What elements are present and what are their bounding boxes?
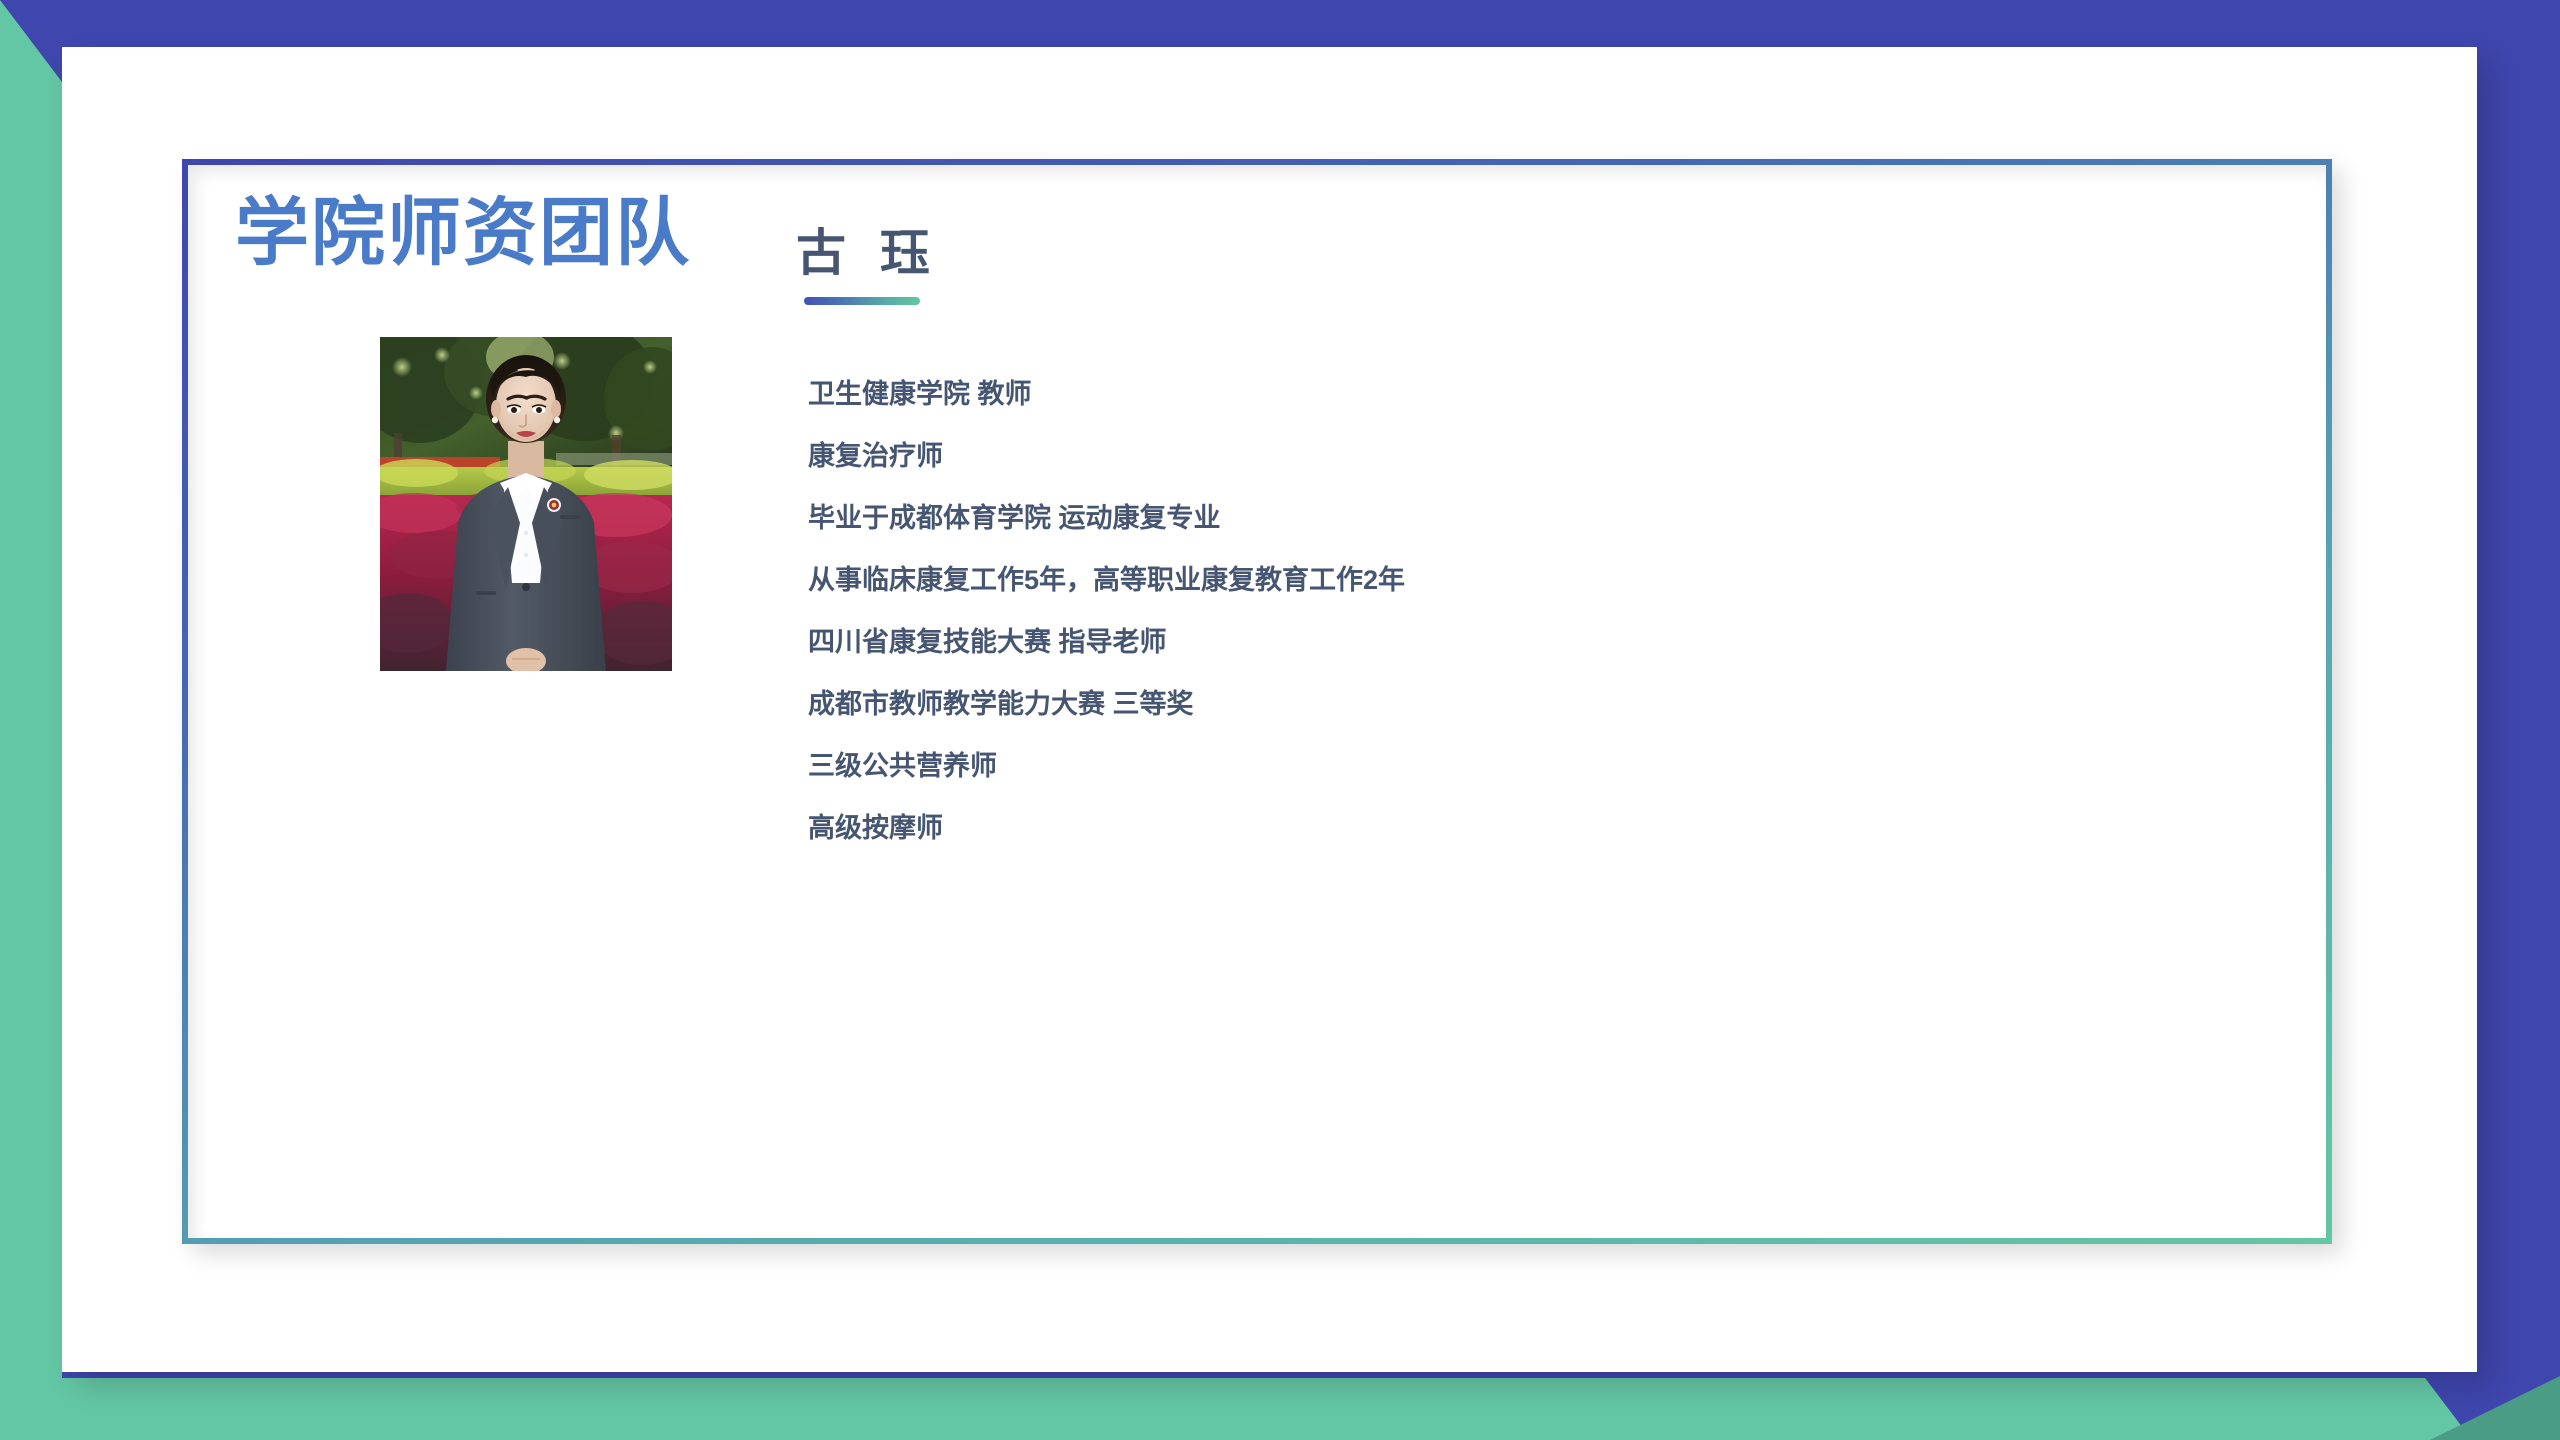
bio-line: 高级按摩师 bbox=[808, 815, 2286, 842]
bio-line: 成都市教师教学能力大赛 三等奖 bbox=[808, 691, 2286, 718]
bio-line: 康复治疗师 bbox=[808, 443, 2286, 470]
bio-line: 卫生健康学院 教师 bbox=[808, 381, 2286, 408]
person-name: 古 珏 bbox=[796, 225, 2286, 283]
page-title: 学院师资团队 bbox=[235, 192, 691, 273]
gradient-frame: 学院师资团队 bbox=[182, 159, 2332, 1244]
bio-list: 卫生健康学院 教师 康复治疗师 毕业于成都体育学院 运动康复专业 从事临床康复工… bbox=[808, 381, 2286, 842]
content-area: 学院师资团队 bbox=[188, 165, 2326, 1238]
bio-line: 四川省康复技能大赛 指导老师 bbox=[808, 629, 2286, 656]
bio-line: 三级公共营养师 bbox=[808, 753, 2286, 780]
bio-line: 从事临床康复工作5年，高等职业康复教育工作2年 bbox=[808, 567, 2286, 594]
slide-root: 学院师资团队 bbox=[0, 0, 2560, 1440]
bio-line: 毕业于成都体育学院 运动康复专业 bbox=[808, 505, 2286, 532]
name-underline-rule bbox=[804, 297, 920, 305]
portrait-photo bbox=[380, 337, 672, 671]
outer-white-card: 学院师资团队 bbox=[62, 47, 2477, 1372]
background-teal-bottom-band bbox=[0, 1378, 2560, 1440]
person-info-block: 古 珏 卫生健康学院 教师 康复治疗师 毕业于成都体育学院 运动康复专业 从事临… bbox=[796, 225, 2286, 842]
background-teal-left-band bbox=[0, 0, 62, 1440]
